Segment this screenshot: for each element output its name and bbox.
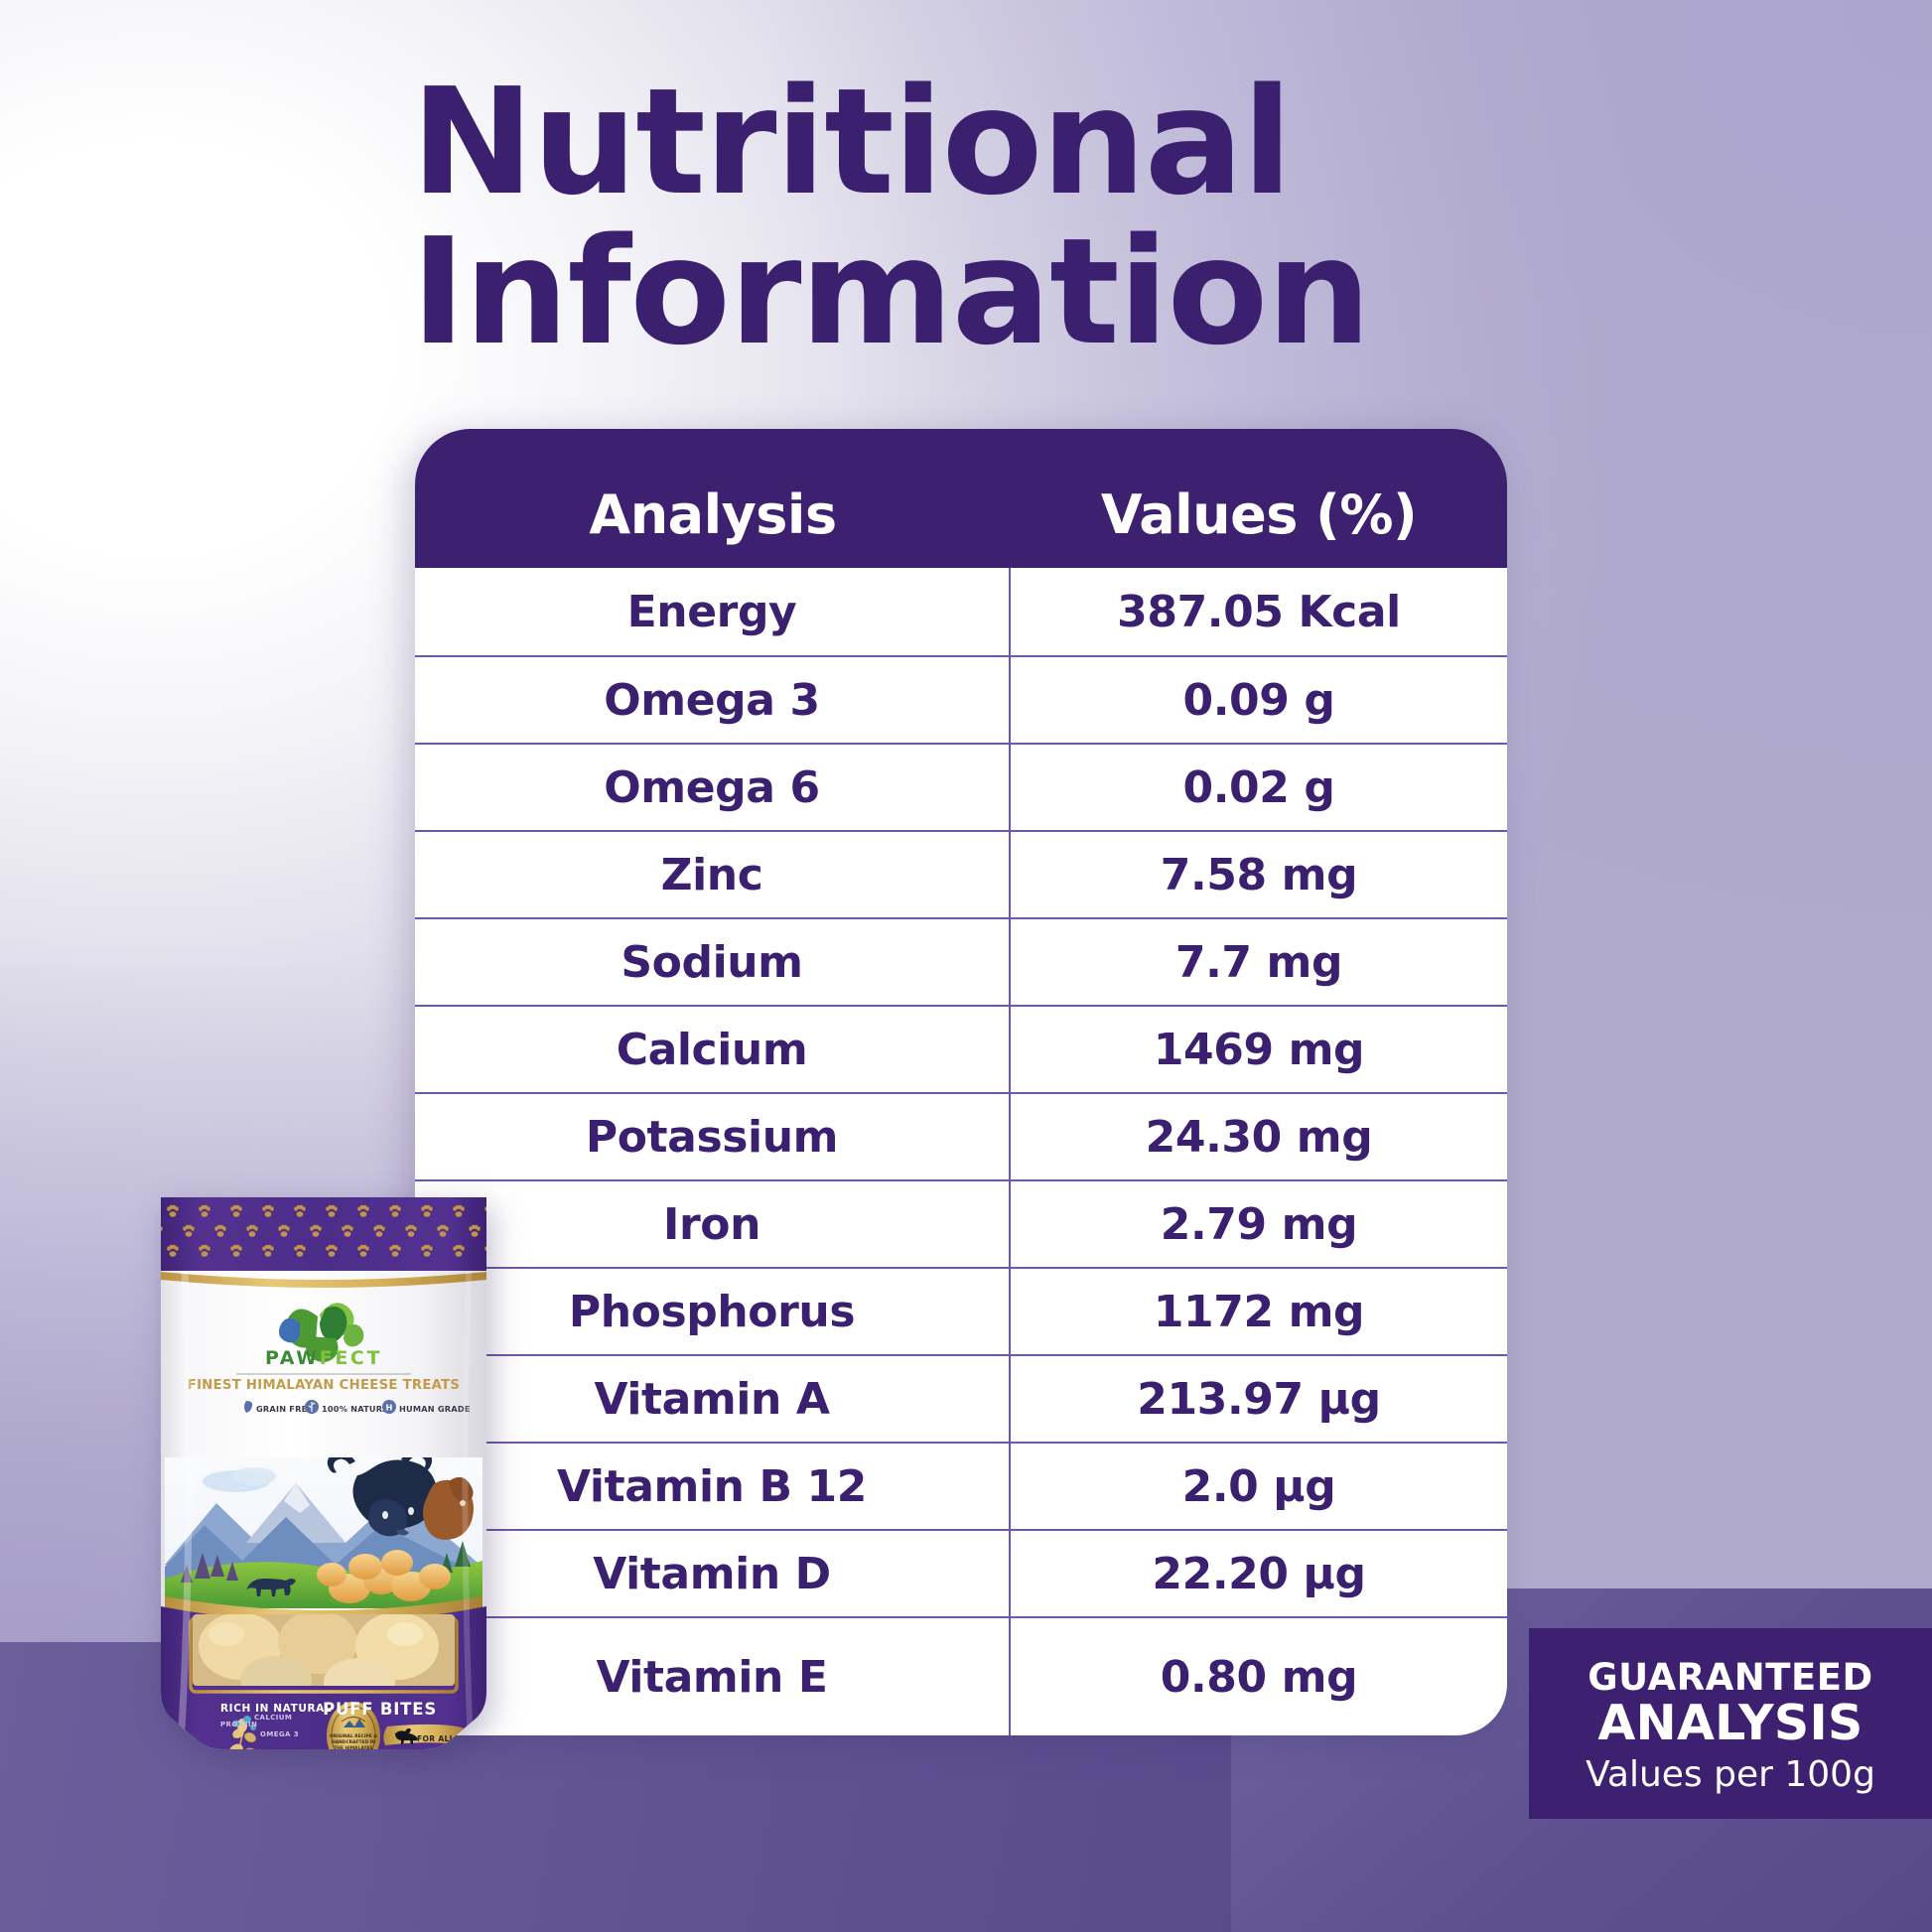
cell-analysis: Vitamin A: [415, 1356, 1011, 1442]
cell-value: 213.97 µg: [1011, 1356, 1507, 1442]
dog-size-label: FOR ALL DOG SIZES: [417, 1734, 496, 1743]
page-title: Nutritional Information: [411, 68, 1642, 367]
cell-analysis: Omega 6: [415, 745, 1011, 830]
net-weight-label: 70g: [379, 1754, 404, 1769]
column-header-values: Values (%): [1011, 483, 1507, 568]
svg-text:GRAIN FREE: GRAIN FREE: [256, 1404, 313, 1414]
cell-analysis: Vitamin B 12: [415, 1444, 1011, 1529]
page-title-line-2: Information: [411, 217, 1642, 367]
product-variant-label: PUFF BITES: [323, 1700, 437, 1719]
seal-line-2: HANDCRAFTED IN: [332, 1739, 375, 1745]
brand-name-fect: FECT: [320, 1347, 382, 1369]
table-row: Omega 30.09 g: [415, 655, 1507, 743]
cell-value: 1469 mg: [1011, 1007, 1507, 1092]
table-row: Phosphorus1172 mg: [415, 1267, 1507, 1354]
cell-value: 7.58 mg: [1011, 832, 1507, 917]
table-row: Calcium1469 mg: [415, 1005, 1507, 1092]
column-header-analysis: Analysis: [415, 483, 1011, 568]
table-header-row: Analysis Values (%): [415, 429, 1507, 568]
guaranteed-label: GUARANTEED: [1587, 1656, 1873, 1699]
table-row: Vitamin D22.20 µg: [415, 1529, 1507, 1616]
cell-value: 0.80 mg: [1011, 1618, 1507, 1735]
table-body: Energy387.05 KcalOmega 30.09 gOmega 60.0…: [415, 568, 1507, 1735]
table-row: Potassium24.30 mg: [415, 1092, 1507, 1179]
nutrient-calcium-label: CALCIUM: [254, 1714, 292, 1722]
cell-analysis: Vitamin D: [415, 1531, 1011, 1616]
product-tagline: FINEST HIMALAYAN CHEESE TREATS: [188, 1378, 460, 1393]
cell-value: 24.30 mg: [1011, 1094, 1507, 1179]
himalayan-scene-illustration: [165, 1440, 483, 1608]
table-row: Vitamin B 122.0 µg: [415, 1442, 1507, 1529]
page-title-line-1: Nutritional: [411, 68, 1642, 217]
table-row: Zinc7.58 mg: [415, 830, 1507, 917]
cell-value: 387.05 Kcal: [1011, 568, 1507, 655]
cell-analysis: Energy: [415, 568, 1011, 655]
guaranteed-analysis-panel: GUARANTEED ANALYSIS Values per 100g: [1529, 1628, 1932, 1819]
cell-analysis: Potassium: [415, 1094, 1011, 1179]
cell-value: 0.09 g: [1011, 657, 1507, 743]
brand-name-paw: PAW: [265, 1347, 320, 1369]
cell-value: 7.7 mg: [1011, 919, 1507, 1005]
nutrient-omega3-label: OMEGA 3: [260, 1730, 299, 1738]
table-row: Vitamin A213.97 µg: [415, 1354, 1507, 1442]
table-row: Omega 60.02 g: [415, 743, 1507, 830]
cell-value: 22.20 µg: [1011, 1531, 1507, 1616]
table-row: Vitamin E0.80 mg: [415, 1616, 1507, 1735]
estimated-sign-icon: ℮: [401, 1753, 410, 1766]
cell-analysis: Zinc: [415, 832, 1011, 917]
cell-value: 2.79 mg: [1011, 1181, 1507, 1267]
cell-value: 1172 mg: [1011, 1269, 1507, 1354]
table-row: Sodium7.7 mg: [415, 917, 1507, 1005]
product-package-image: PAWFECT FINEST HIMALAYAN CHEESE TREATS G…: [151, 1197, 496, 1773]
nutrition-table: Analysis Values (%) Energy387.05 KcalOme…: [415, 429, 1507, 1803]
brand-name: PAWFECT: [265, 1347, 382, 1369]
cell-analysis: Vitamin E: [415, 1618, 1011, 1735]
cell-value: 2.0 µg: [1011, 1444, 1507, 1529]
cell-analysis: Phosphorus: [415, 1269, 1011, 1354]
cell-analysis: Iron: [415, 1181, 1011, 1267]
cell-analysis: Omega 3: [415, 657, 1011, 743]
cell-value: 0.02 g: [1011, 745, 1507, 830]
nutrient-protein-label: PROTEIN: [220, 1721, 257, 1728]
values-per-100g-label: Values per 100g: [1586, 1754, 1875, 1795]
cell-analysis: Calcium: [415, 1007, 1011, 1092]
seal-line-1: ORIGINAL RECIPE &: [330, 1733, 377, 1739]
cell-analysis: Sodium: [415, 919, 1011, 1005]
svg-text:HUMAN GRADE: HUMAN GRADE: [399, 1404, 471, 1414]
pouch-body: PAWFECT FINEST HIMALAYAN CHEESE TREATS G…: [151, 1197, 496, 1773]
table-row: Energy387.05 Kcal: [415, 568, 1507, 655]
seal-line-3: THE HIMALAYAS: [334, 1745, 372, 1751]
analysis-label: ANALYSIS: [1597, 1699, 1863, 1748]
svg-text:H: H: [386, 1404, 393, 1413]
table-row: Iron2.79 mg: [415, 1179, 1507, 1267]
